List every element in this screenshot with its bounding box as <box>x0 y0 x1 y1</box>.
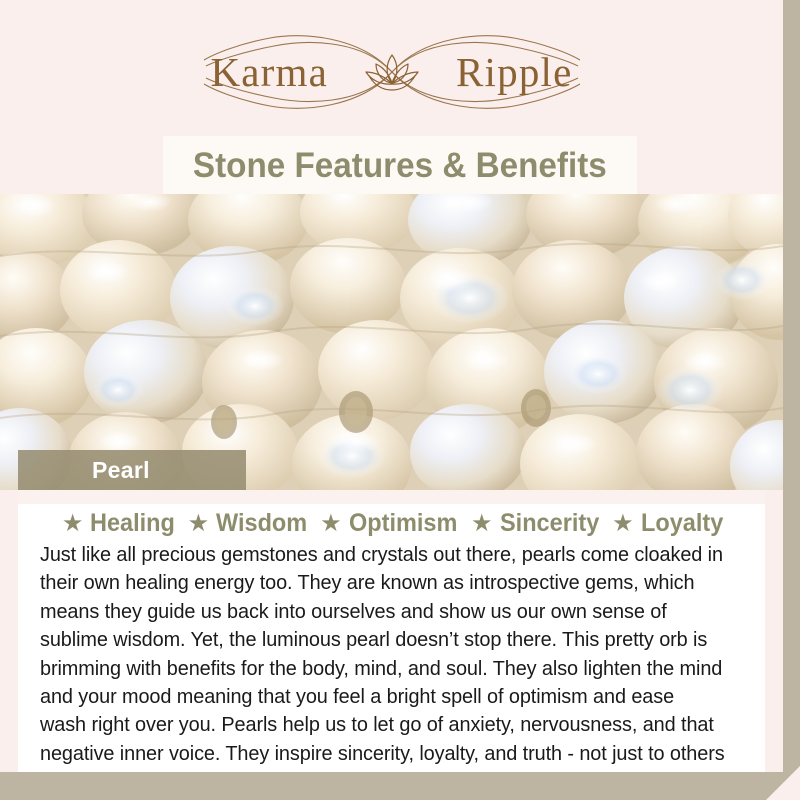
pearl-photo-image <box>0 194 783 490</box>
stone-name-label: Pearl <box>92 457 150 484</box>
feature-label-wisdom: Wisdom <box>216 509 307 538</box>
corner-chamfer-decoration <box>766 766 800 800</box>
card-top-strip <box>18 490 765 504</box>
description-paragraph: Just like all precious gemstones and cry… <box>40 541 725 772</box>
feature-label-healing: Healing <box>90 509 175 538</box>
title-banner: Stone Features & Benefits <box>163 136 637 196</box>
brand-word-karma: Karma <box>210 52 328 93</box>
feature-label-sincerity: Sincerity <box>500 509 599 538</box>
brand-logo: Karma Ripple <box>0 26 783 118</box>
feature-label-loyalty: Loyalty <box>641 509 723 538</box>
inner-panel: Karma Ripple Stone Features & Bene <box>0 0 783 772</box>
feature-item-loyalty: ★ Loyalty <box>605 509 728 538</box>
star-icon: ★ <box>471 512 493 536</box>
infographic-page: Karma Ripple Stone Features & Bene <box>0 0 800 800</box>
feature-item-wisdom: ★ Wisdom <box>181 509 314 538</box>
feature-item-healing: ★ Healing <box>55 509 181 538</box>
star-icon: ★ <box>612 512 634 536</box>
feature-item-optimism: ★ Optimism <box>313 509 464 538</box>
brand-word-ripple: Ripple <box>456 52 573 93</box>
star-icon: ★ <box>188 512 210 536</box>
star-icon: ★ <box>62 512 84 536</box>
feature-item-sincerity: ★ Sincerity <box>464 509 605 538</box>
brand-logo-inner: Karma Ripple <box>177 26 607 118</box>
stone-photo <box>0 194 783 490</box>
star-icon: ★ <box>320 512 342 536</box>
lotus-icon <box>361 49 423 95</box>
feature-list: ★ Healing ★ Wisdom ★ Optimism ★ Sincerit… <box>18 509 765 538</box>
feature-label-optimism: Optimism <box>349 509 457 538</box>
content-card: ★ Healing ★ Wisdom ★ Optimism ★ Sincerit… <box>18 490 765 772</box>
page-title: Stone Features & Benefits <box>193 146 607 186</box>
stone-name-bar: Pearl <box>18 450 246 490</box>
